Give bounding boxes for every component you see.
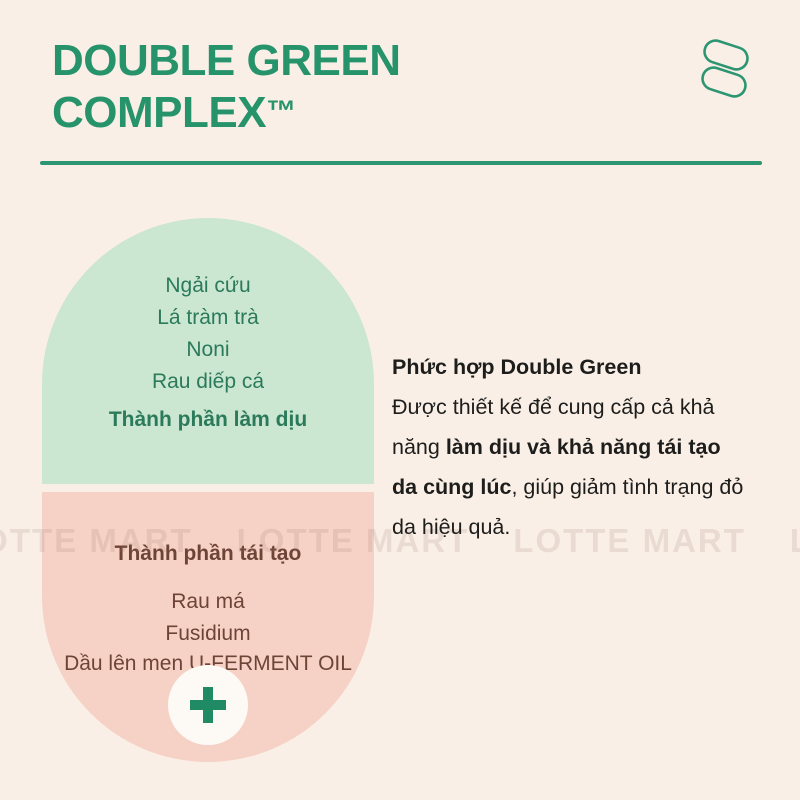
capsule-graphic: Ngải cứu Lá tràm trà Noni Rau diếp cá Th… (42, 218, 374, 762)
watermark-text: LOTTE MART (790, 522, 800, 560)
page-title-line2: COMPLEX (52, 88, 266, 137)
ingredient-item: Fusidium (42, 618, 374, 650)
double-capsule-logo (694, 38, 756, 100)
trademark-symbol: ™ (266, 95, 296, 128)
body-heading: Phức hợp Double Green (392, 348, 744, 388)
page-title: DOUBLE GREENCOMPLEX™ (52, 35, 612, 139)
header-divider (40, 161, 762, 165)
body-copy: Phức hợp Double GreenĐược thiết kế để cu… (392, 348, 744, 548)
ingredient-item: Rau diếp cá (42, 366, 374, 398)
capsule-soothing-half: Ngải cứu Lá tràm trà Noni Rau diếp cá Th… (42, 218, 374, 484)
plus-icon (190, 687, 226, 723)
ingredient-item: Rau má (42, 586, 374, 618)
capsule-regenerating-label: Thành phần tái tạo (42, 538, 374, 570)
capsule-soothing-text: Ngải cứu Lá tràm trà Noni Rau diếp cá Th… (42, 270, 374, 436)
infographic-page: DOUBLE GREENCOMPLEX™ Ngải cứu Lá tràm tr… (0, 0, 800, 800)
header: DOUBLE GREENCOMPLEX™ (0, 0, 800, 170)
ingredient-item: Ngải cứu (42, 270, 374, 302)
ingredient-item: Noni (42, 334, 374, 366)
page-title-line1: DOUBLE GREEN (52, 36, 400, 85)
capsule-soothing-label: Thành phần làm dịu (42, 404, 374, 436)
plus-connector-badge (168, 665, 248, 745)
ingredient-item: Lá tràm trà (42, 302, 374, 334)
